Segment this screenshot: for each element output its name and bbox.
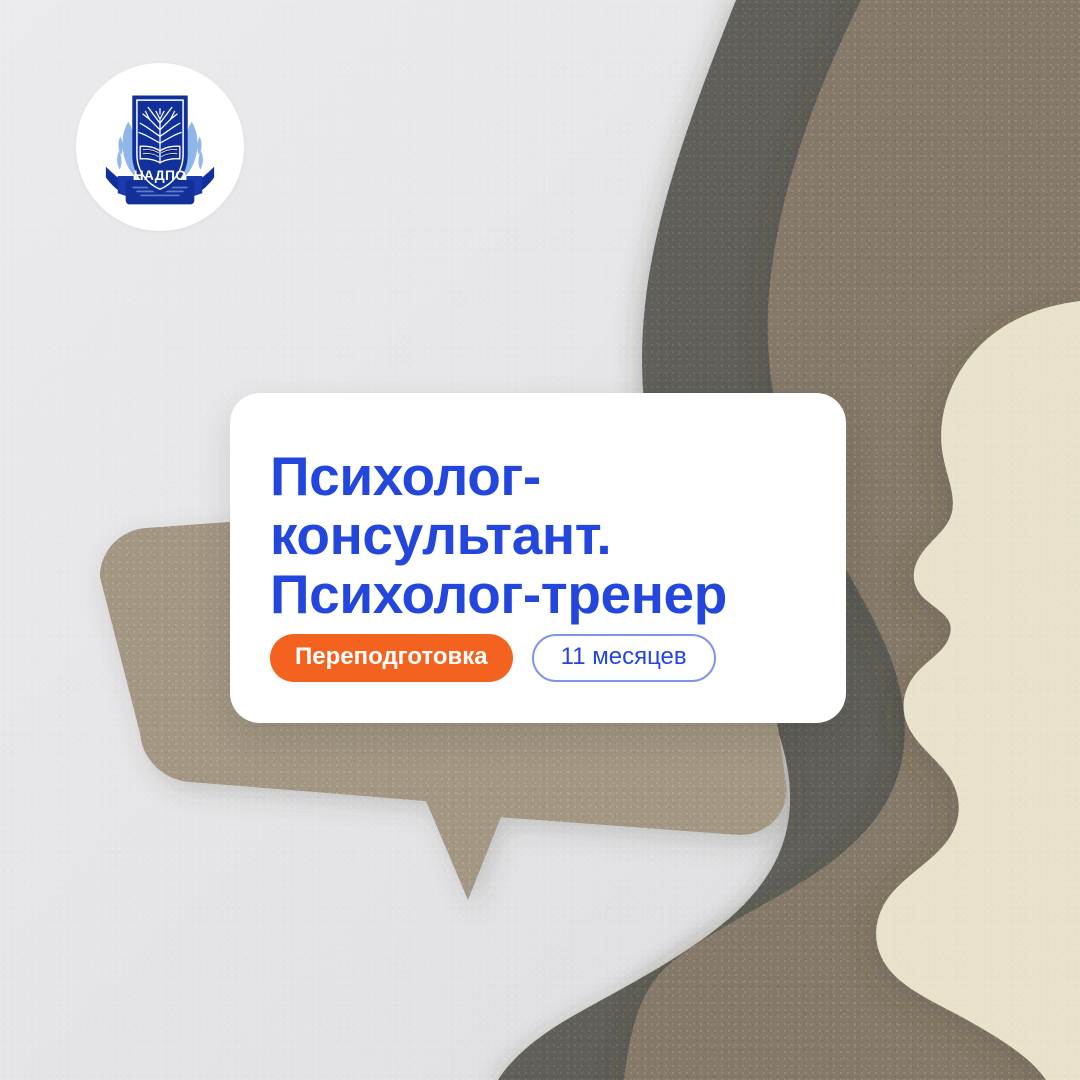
page-title: Психолог- консультант. Психолог-тренер xyxy=(270,447,806,624)
shield-label: НАДПО xyxy=(134,167,187,183)
poster-canvas: НАДПО Психолог- консультант. Психолог-тр… xyxy=(0,0,1080,1080)
shield-icon: НАДПО xyxy=(132,96,187,195)
status-badge-program-type[interactable]: Переподготовка xyxy=(270,634,513,682)
logo-badge[interactable]: НАДПО xyxy=(76,63,244,231)
status-badge-duration[interactable]: 11 месяцев xyxy=(532,634,716,682)
course-title-card: Психолог- консультант. Психолог-тренер П… xyxy=(230,393,846,723)
nadpo-logo-icon: НАДПО xyxy=(94,81,226,213)
course-meta-row: Переподготовка 11 месяцев xyxy=(270,634,716,682)
